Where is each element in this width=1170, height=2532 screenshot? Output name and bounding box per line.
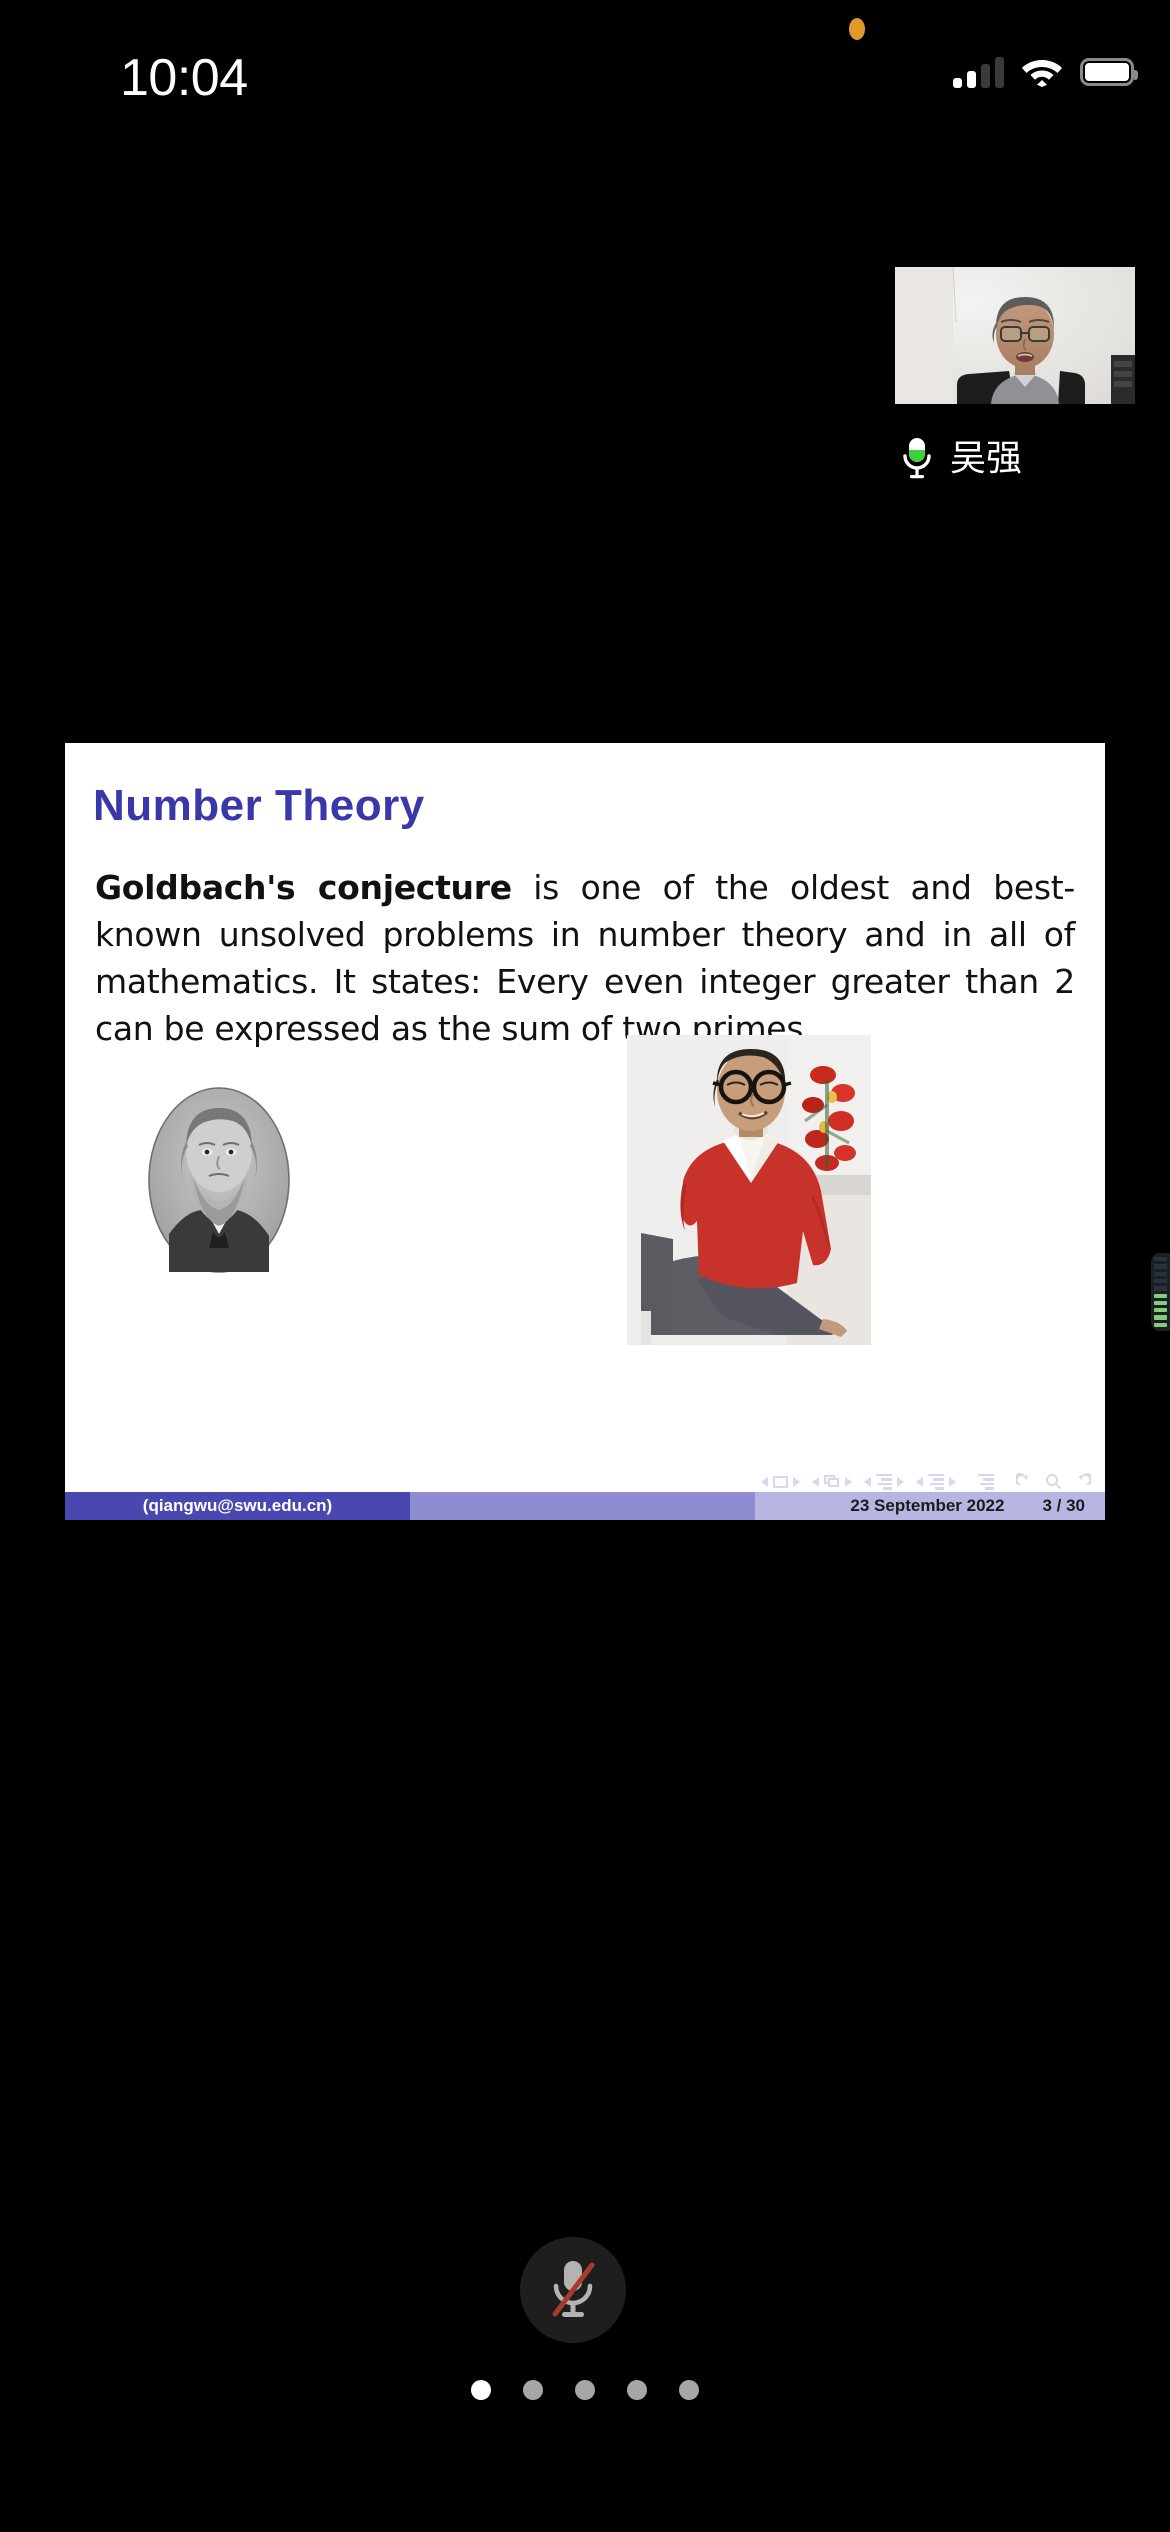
subsection-prev-icon[interactable] xyxy=(864,1477,871,1487)
forward-arrow-icon[interactable] xyxy=(1074,1473,1091,1490)
shared-slide[interactable]: Number Theory Goldbach's conjecture is o… xyxy=(65,743,1105,1520)
page-dot[interactable] xyxy=(575,2380,595,2400)
slide-body-lead: Goldbach's conjecture xyxy=(95,868,512,907)
footer-middle-segment xyxy=(410,1492,755,1520)
frame-prev-icon[interactable] xyxy=(812,1477,819,1487)
participant-video-tile[interactable] xyxy=(895,267,1135,404)
meeting-screen: 10:04 xyxy=(0,0,1170,2532)
mute-toggle-button[interactable] xyxy=(520,2237,626,2343)
microphone-icon xyxy=(900,437,934,479)
goldbach-portrait xyxy=(145,1084,293,1277)
slide-body-text: Goldbach's conjecture is one of the olde… xyxy=(95,865,1075,1052)
slide-title: Number Theory xyxy=(93,781,425,831)
footer-date: 23 September 2022 xyxy=(850,1496,1004,1516)
recording-dot-icon xyxy=(849,18,865,40)
subsection-lines-icon[interactable] xyxy=(876,1474,892,1490)
footer-author-segment: (qiangwu@swu.edu.cn) xyxy=(65,1492,410,1520)
cellular-signal-icon xyxy=(953,56,1004,88)
status-bar-time: 10:04 xyxy=(120,48,248,108)
page-indicator-dots[interactable] xyxy=(0,2380,1170,2400)
beamer-nav-symbols[interactable] xyxy=(65,1473,1105,1490)
footer-date-page-segment: 23 September 2022 3 / 30 xyxy=(755,1492,1105,1520)
section-nav-group[interactable] xyxy=(916,1474,956,1490)
page-dot[interactable] xyxy=(523,2380,543,2400)
participant-name-row: 吴强 xyxy=(900,437,1022,479)
frame-stack-icon[interactable] xyxy=(824,1475,840,1488)
section-prev-icon[interactable] xyxy=(916,1477,923,1487)
slide-footer: (qiangwu@swu.edu.cn) 23 September 2022 3… xyxy=(65,1492,1105,1520)
battery-icon xyxy=(1080,58,1134,86)
section-next-icon[interactable] xyxy=(949,1477,956,1487)
chen-jingrun-photo xyxy=(627,1035,871,1345)
footer-page-number: 3 / 30 xyxy=(1042,1496,1085,1516)
frame-nav-group[interactable] xyxy=(812,1475,852,1488)
slide-next-icon[interactable] xyxy=(793,1477,800,1487)
slide-nav-group[interactable] xyxy=(761,1476,800,1488)
back-arrow-icon[interactable] xyxy=(1016,1473,1033,1490)
participant-name: 吴强 xyxy=(950,440,1022,476)
subsection-nav-group[interactable] xyxy=(864,1474,904,1490)
page-dot[interactable] xyxy=(627,2380,647,2400)
section-lines-icon[interactable] xyxy=(928,1474,944,1490)
status-bar: 10:04 xyxy=(0,0,1170,130)
search-icon[interactable] xyxy=(1045,1473,1062,1490)
frame-next-icon[interactable] xyxy=(845,1477,852,1487)
subsection-next-icon[interactable] xyxy=(897,1477,904,1487)
microphone-slash-icon xyxy=(547,2259,599,2321)
slide-prev-icon[interactable] xyxy=(761,1477,768,1487)
document-lines-icon[interactable] xyxy=(978,1474,994,1490)
page-dot[interactable] xyxy=(471,2380,491,2400)
status-bar-icons xyxy=(953,46,1134,88)
footer-author-email: (qiangwu@swu.edu.cn) xyxy=(143,1496,332,1516)
slide-box-icon[interactable] xyxy=(773,1476,788,1488)
wifi-icon xyxy=(1022,56,1062,87)
page-dot[interactable] xyxy=(679,2380,699,2400)
participant-video-frame xyxy=(895,267,1135,404)
audio-level-meter xyxy=(1151,1253,1170,1331)
